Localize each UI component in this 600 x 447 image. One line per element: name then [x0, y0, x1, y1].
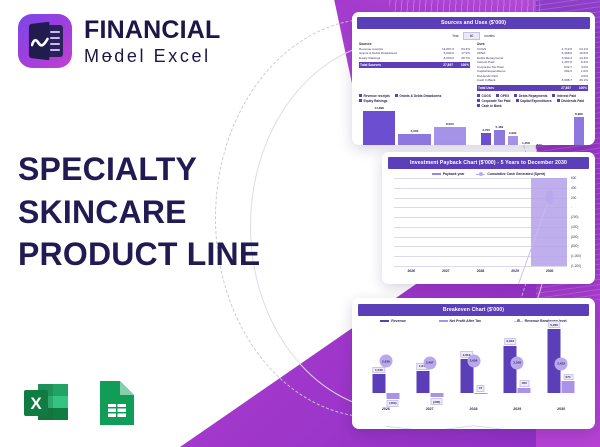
- chart-bar-label: 14,898: [374, 106, 383, 110]
- breakeven-legend-item-1: Net Profit After Tax: [439, 319, 482, 323]
- uses-legend-item: Interest Paid: [552, 94, 576, 98]
- payback-y-tick-label: 200: [571, 196, 576, 200]
- control-label-right: months: [484, 34, 494, 38]
- payback-y-tick-label: -: [571, 205, 572, 209]
- sources-bar-chart: 14,8985,0008,000: [359, 105, 470, 145]
- breakeven-level-bubble: 2,639: [379, 355, 392, 368]
- card-breakeven-title: Breakeven Chart ($'000): [358, 304, 589, 316]
- control-label-left: Year: [452, 34, 458, 38]
- sources-legend-swatch: [395, 94, 398, 97]
- uses-legend-swatch: [496, 94, 499, 97]
- uses-row-value: 8,988.7: [546, 78, 572, 82]
- google-sheets-icon[interactable]: [94, 377, 140, 429]
- sources-legend-label: Grants & Debts Drawdowns: [399, 94, 441, 98]
- breakeven-npat-label: 450: [519, 380, 529, 387]
- card-sources-and-uses[interactable]: Sources and Uses ($'000) Year 60 months …: [352, 12, 595, 145]
- payback-legend-label-1: Cumulative Cash Generated (Spent): [487, 172, 545, 176]
- brand-o-tick: o: [102, 47, 115, 65]
- chart-bar-label: 3,992: [509, 131, 517, 135]
- breakeven-revenue-label: 1,540: [373, 367, 386, 374]
- uses-total-value: 27,897: [545, 86, 571, 90]
- breakeven-npat-bar: (463): [386, 393, 399, 399]
- uses-legend-swatch: [552, 94, 555, 97]
- breakeven-npat-bar: (336): [430, 393, 443, 397]
- sources-uses-controls: Year 60 months: [357, 32, 590, 40]
- poster-canvas: FINANCIAL Model Excel SPECIALTY SKINCARE…: [0, 0, 600, 447]
- chart-bar-label: 8,000: [446, 122, 454, 126]
- uses-legend-swatch: [477, 99, 480, 102]
- page-title-line-2: SKINCARE: [18, 191, 260, 234]
- breakeven-revenue-bar: 1,540: [372, 374, 385, 393]
- left-column: FINANCIAL Model Excel SPECIALTY SKINCARE…: [0, 0, 330, 447]
- breakeven-revenue-label: 5,266: [548, 321, 561, 328]
- chart-bar-label: 5,469: [496, 125, 504, 129]
- uses-legend-item: Corporate Tax Paid: [477, 99, 511, 103]
- uses-legend-label: COGS: [482, 94, 491, 98]
- brand-name-primary: FINANCIAL: [84, 18, 221, 43]
- uses-legend-swatch: [516, 99, 519, 102]
- card-breakeven[interactable]: Breakeven Chart ($'000) Revenue Net Prof…: [352, 298, 595, 429]
- uses-legend-label: Debts Repayments: [519, 94, 548, 98]
- page-title-line-1: SPECIALTY: [18, 148, 260, 191]
- uses-legend-label: Capital Expenditures: [520, 99, 552, 103]
- sources-total-row: Total Sources 27,897 100%: [359, 62, 470, 68]
- uses-legend-swatch: [514, 94, 517, 97]
- payback-legend-swatch-line: [476, 174, 485, 175]
- sources-legend-swatch: [359, 94, 362, 97]
- breakeven-revenue-label: 3,904: [504, 338, 517, 345]
- breakeven-level-bubble: 2,656: [467, 354, 480, 367]
- payback-y-tick-label: (200): [571, 215, 578, 219]
- payback-y-tick-label: (1,000): [571, 254, 581, 258]
- sources-legend-item: Revenue receipts: [359, 94, 390, 98]
- uses-table: Uses COGS4,719.824.1%OPEX5,468.819.6%Deb…: [477, 42, 588, 91]
- logo-trend-icon: [31, 37, 49, 49]
- uses-chart-legend: COGSOPEXDebts RepaymentsInterest PaidCor…: [477, 94, 588, 108]
- chart-bar-label: 833: [537, 143, 542, 145]
- breakeven-npat-label: (463): [387, 400, 399, 407]
- payback-data-point: [546, 190, 554, 205]
- breakeven-legend-label-0: Revenue: [391, 319, 406, 323]
- sources-legend-label: Equity Raisings: [364, 99, 388, 103]
- chart-bar-label: 1,258: [522, 141, 530, 145]
- sources-legend-item: Grants & Debts Drawdowns: [395, 94, 441, 98]
- uses-legend-item: Capital Expenditures: [516, 99, 552, 103]
- chart-bar-label: 8,989: [575, 112, 583, 116]
- uses-legend-item: Dividends Paid: [557, 99, 584, 103]
- payback-y-tick-label: (800): [571, 244, 578, 248]
- sources-chart-legend: Revenue receiptsGrants & Debts Drawdowns…: [359, 94, 470, 103]
- uses-legend-label: Interest Paid: [557, 94, 576, 98]
- financial-model-logo-icon: [18, 14, 72, 68]
- chart-bar-label: 4,720: [482, 128, 490, 132]
- chart-bar: 4,720: [481, 133, 491, 145]
- sources-uses-charts: Revenue receiptsGrants & Debts Drawdowns…: [357, 91, 590, 145]
- sources-legend-swatch: [359, 99, 362, 102]
- sources-table: Sources Revenue receipts14,897.053.3%Gra…: [359, 42, 470, 91]
- breakeven-level-bubble: 2,422: [555, 357, 568, 370]
- payback-y-tick-label: (400): [571, 225, 578, 229]
- uses-legend-swatch: [477, 94, 480, 97]
- payback-legend-item-0: Payback year: [432, 172, 465, 176]
- file-format-icons: X: [20, 377, 140, 429]
- payback-polyline: [411, 197, 549, 284]
- payback-y-tick-label: 600: [571, 176, 576, 180]
- uses-legend-label: Dividends Paid: [561, 99, 584, 103]
- payback-y-tick-label: 400: [571, 186, 576, 190]
- payback-y-tick-label: (600): [571, 235, 578, 239]
- breakeven-level-bubble: 2,497: [423, 356, 436, 369]
- breakeven-npat-label: 47: [476, 385, 484, 392]
- breakeven-npat-bar: 450: [518, 388, 531, 393]
- brand-lockup: FINANCIAL Model Excel: [18, 14, 221, 68]
- breakeven-level-polyline: [386, 426, 561, 429]
- payback-legend-swatch-bar: [432, 173, 441, 176]
- payback-y-axis: 600400200-(200)(400)(600)(800)(1,000)(1,…: [567, 178, 589, 266]
- uses-row-name: Cash in Bank: [477, 78, 546, 82]
- breakeven-npat-bar: 971: [562, 381, 575, 393]
- chart-bar: 3,992: [508, 136, 518, 145]
- sources-total-value: 27,897: [427, 63, 453, 67]
- control-value-input[interactable]: 60: [463, 32, 481, 40]
- svg-text:X: X: [30, 394, 42, 413]
- sources-legend-label: Revenue receipts: [364, 94, 390, 98]
- chart-bar: 5,000: [398, 134, 430, 145]
- uses-legend-swatch: [557, 99, 560, 102]
- uses-row-pct: 30.1%: [572, 78, 588, 82]
- page-title: SPECIALTY SKINCARE PRODUCT LINE: [18, 148, 260, 276]
- uses-chart: COGSOPEXDebts RepaymentsInterest PaidCor…: [477, 91, 588, 145]
- brand-text: FINANCIAL Model Excel: [84, 18, 221, 65]
- sources-legend-item: Equity Raisings: [359, 99, 387, 103]
- uses-bar-chart: 4,7205,4693,9921,258833282-8,989: [477, 110, 588, 145]
- sources-uses-tables: Sources Revenue receipts14,897.053.3%Gra…: [357, 42, 590, 91]
- uses-legend-item: Cash in Bank: [477, 104, 502, 108]
- sources-total-label: Total Sources: [360, 63, 427, 67]
- uses-legend-item: Debts Repayments: [514, 94, 547, 98]
- breakeven-npat-label: (336): [431, 398, 443, 405]
- uses-legend-item: COGS: [477, 94, 491, 98]
- chart-bar: 5,469: [494, 130, 504, 145]
- uses-legend-label: OPEX: [500, 94, 509, 98]
- chart-bar: 8,000: [434, 127, 466, 145]
- brand-name-secondary: Model Excel: [84, 47, 221, 65]
- chart-bar-label: 5,000: [411, 129, 419, 133]
- sources-row-name: Equity Raisings: [359, 56, 428, 60]
- payback-legend: Payback year Cumulative Cash Generated (…: [388, 172, 589, 176]
- card-investment-payback[interactable]: Investment Payback Chart ($'000) - 5 Yea…: [382, 152, 595, 284]
- chart-bar: 8,989: [574, 117, 584, 145]
- uses-legend-swatch: [477, 104, 480, 107]
- table-row: Equity Raisings8,000.028.7%: [359, 56, 470, 60]
- breakeven-npat-bar: 47: [474, 393, 487, 394]
- excel-icon[interactable]: X: [20, 377, 72, 429]
- payback-y-tick-label: (1,200): [571, 264, 581, 268]
- breakeven-level-bubble: 2,505: [511, 356, 524, 369]
- breakeven-legend-swatch-revenue: [380, 320, 389, 323]
- chart-bar: 14,898: [363, 111, 395, 146]
- sources-chart: Revenue receiptsGrants & Debts Drawdowns…: [359, 91, 470, 145]
- uses-legend-label: Cash in Bank: [482, 104, 502, 108]
- breakeven-plot-area: 1,540(463)1,848(336)2,819473,9044505,266…: [364, 325, 583, 403]
- payback-plot-area: 600400200-(200)(400)(600)(800)(1,000)(1,…: [394, 178, 567, 266]
- sources-total-pct: 100%: [453, 63, 469, 67]
- payback-legend-item-1: Cumulative Cash Generated (Spent): [476, 172, 545, 176]
- breakeven-revenue-bar: 1,848: [416, 371, 429, 394]
- table-row: Cash in Bank8,988.730.1%: [477, 78, 588, 82]
- breakeven-legend-swatch-level: [514, 321, 523, 322]
- breakeven-revenue-bar: 3,904: [504, 346, 517, 394]
- breakeven-legend-label-1: Net Profit After Tax: [450, 319, 482, 323]
- card-payback-title: Investment Payback Chart ($'000) - 5 Yea…: [388, 157, 589, 169]
- page-title-line-3: PRODUCT LINE: [18, 233, 260, 276]
- sources-row-pct: 28.7%: [454, 56, 470, 60]
- sources-row-value: 8,000.0: [428, 56, 454, 60]
- breakeven-legend-swatch-npat: [439, 320, 448, 323]
- breakeven-npat-label: 971: [563, 374, 573, 381]
- breakeven-legend-item-0: Revenue: [380, 319, 406, 323]
- card-sources-uses-title: Sources and Uses ($'000): [357, 17, 590, 29]
- uses-total-label: Total Uses: [478, 86, 545, 90]
- payback-legend-label-0: Payback year: [443, 172, 465, 176]
- uses-legend-item: OPEX: [496, 94, 509, 98]
- uses-legend-label: Corporate Tax Paid: [482, 99, 511, 103]
- payback-line-series: [394, 178, 567, 284]
- uses-total-pct: 100%: [571, 86, 587, 90]
